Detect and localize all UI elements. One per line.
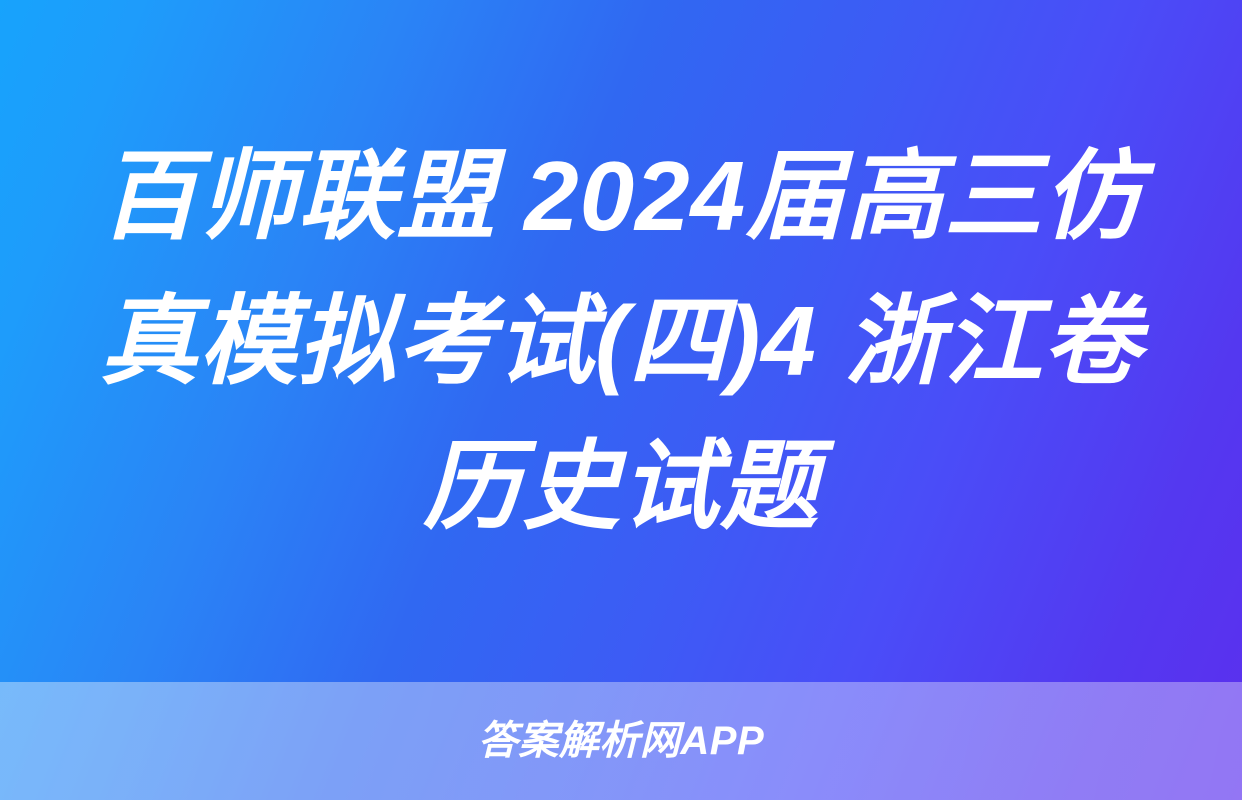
poster-canvas: 百师联盟 2024届高三仿 真模拟考试(四)4 浙江卷 历史试题 答案解析网AP… (0, 0, 1242, 800)
title-block: 百师联盟 2024届高三仿 真模拟考试(四)4 浙江卷 历史试题 (0, 0, 1242, 682)
footer-watermark-band: 答案解析网APP (0, 682, 1242, 800)
title-line-3: 历史试题 (423, 414, 819, 559)
app-watermark-label: 答案解析网APP (478, 721, 764, 761)
title-line-1: 百师联盟 2024届高三仿 (100, 124, 1142, 269)
title-line-2: 真模拟考试(四)4 浙江卷 (100, 269, 1142, 414)
